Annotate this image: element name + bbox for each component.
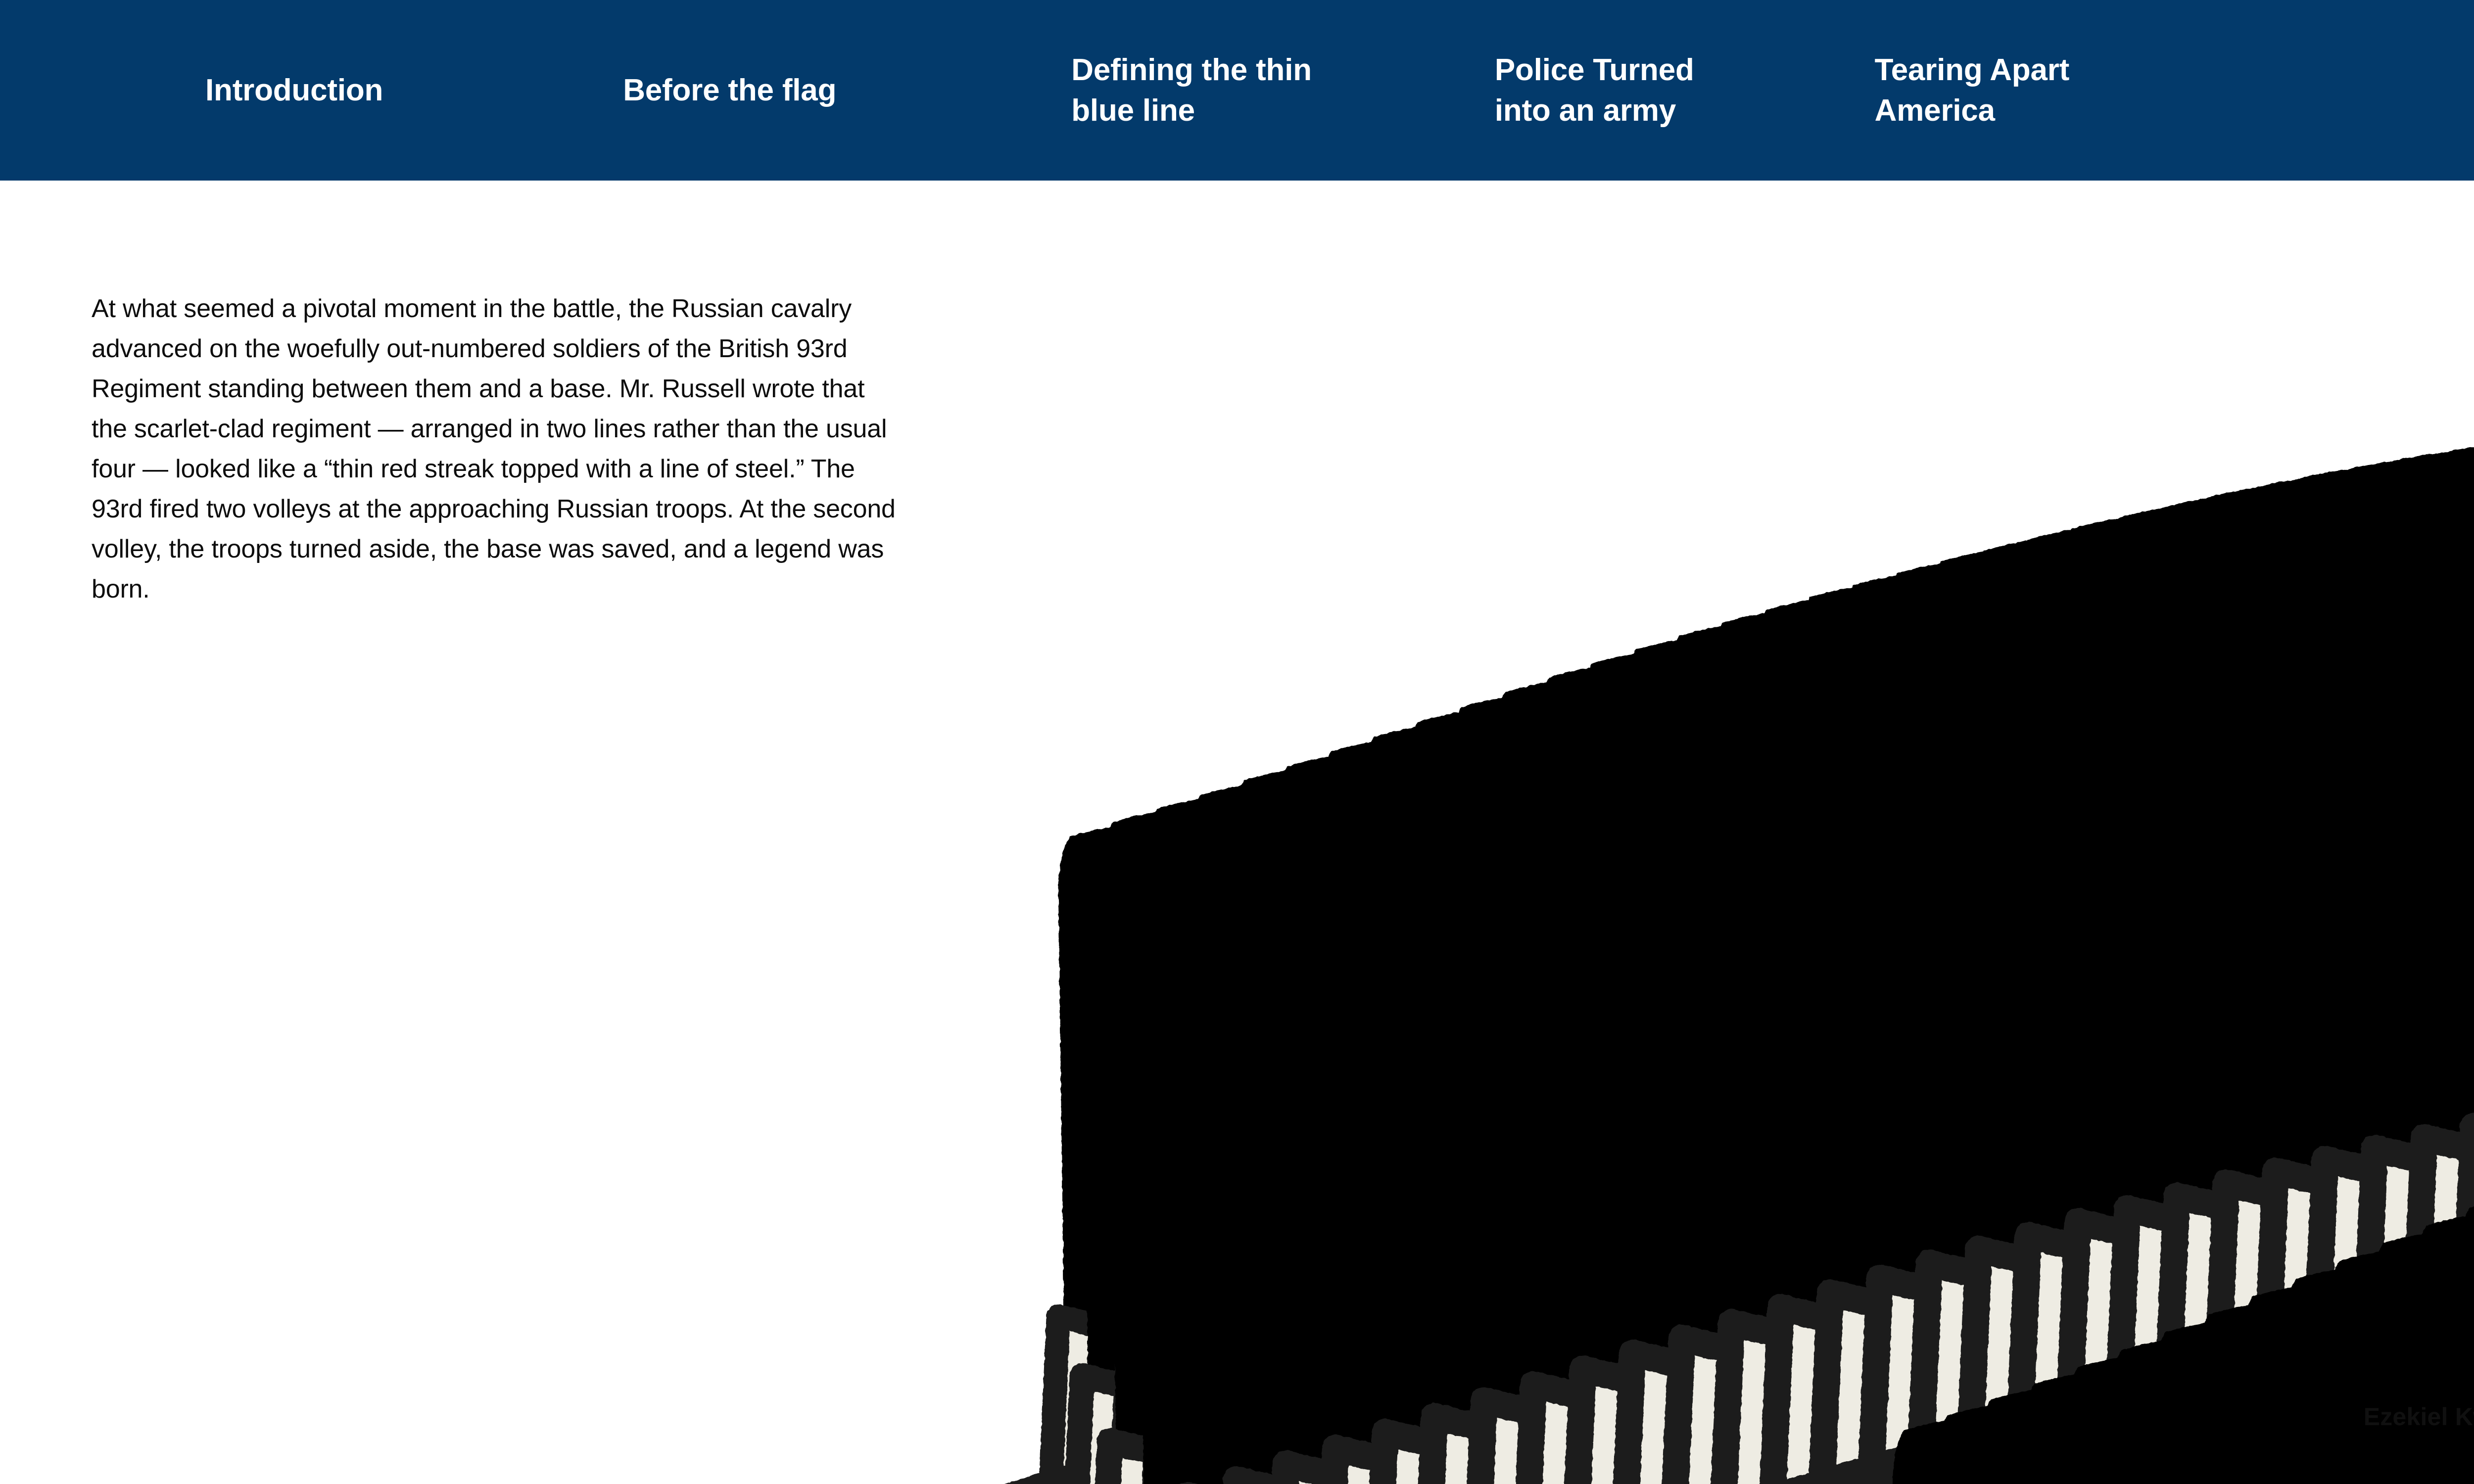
nav-item-police-turned-into-an-army[interactable]: Police Turned into an army (1495, 50, 1694, 131)
nav-item-tearing-apart-america[interactable]: Tearing Apart America (1875, 50, 2070, 131)
nav-item-defining-the-thin-blue-line[interactable]: Defining the thin blue line (1071, 50, 1312, 131)
nav-item-before-the-flag[interactable]: Before the flag (623, 70, 836, 111)
grey-soldier-column (910, 400, 2474, 1484)
grey-rank-2 (949, 451, 2474, 1484)
story-paragraph: At what seemed a pivotal moment in the b… (92, 289, 903, 609)
grey-rank-front (970, 481, 2474, 1484)
top-navigation-bar: Introduction Before the flag Defining th… (0, 0, 2474, 181)
footer-credit: Ezekiel Kweku 6 (2364, 1402, 2474, 1431)
nav-item-introduction[interactable]: Introduction (205, 70, 383, 111)
grey-rank-3 (927, 425, 2474, 1484)
grey-rank-back (910, 400, 2474, 1484)
red-rank-front (1769, 1135, 2474, 1484)
